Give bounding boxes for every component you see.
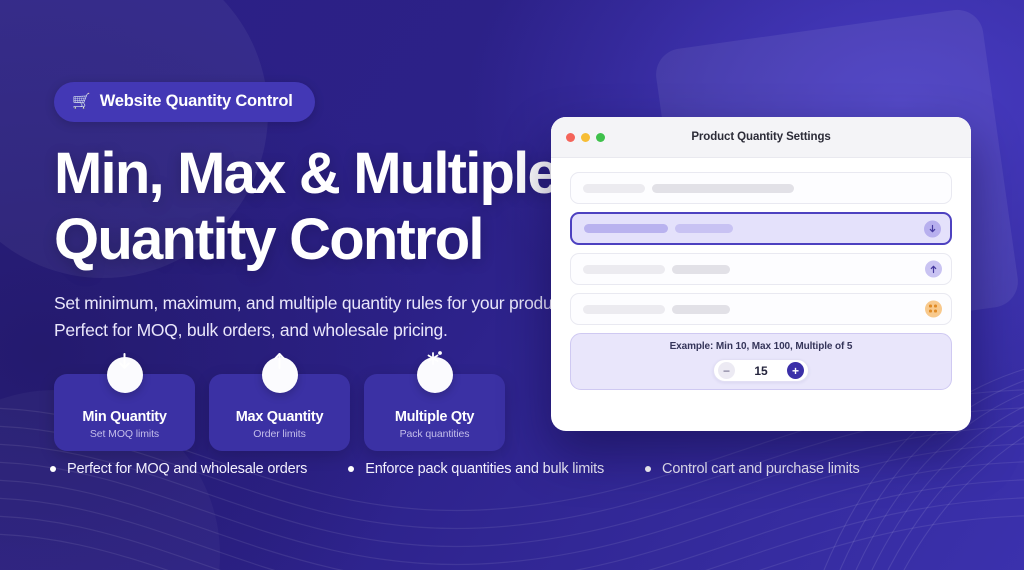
- feature-card-subtitle: Set MOQ limits: [90, 428, 159, 440]
- benefit-text: Enforce pack quantities and bulk limits: [365, 461, 604, 477]
- hero-badge: 🛒 Website Quantity Control: [54, 82, 315, 122]
- hero-banner: 🛒 Website Quantity Control Min, Max & Mu…: [0, 0, 1024, 570]
- arrow-up-icon: [262, 357, 298, 393]
- feature-card-title: Max Quantity: [236, 409, 323, 425]
- hero-badge-label: Website Quantity Control: [100, 92, 293, 111]
- headline-line-2: Quantity Control: [54, 207, 483, 272]
- example-label: Example: Min 10, Max 100, Multiple of 5: [670, 341, 853, 352]
- pack-dots-icon[interactable]: [925, 301, 942, 318]
- arrow-up-icon[interactable]: [925, 261, 942, 278]
- feature-card-title: Multiple Qty: [395, 409, 474, 425]
- arrow-down-icon: [107, 357, 143, 393]
- benefit-list: Perfect for MOQ and wholesale orders Enf…: [50, 461, 860, 477]
- feature-card-subtitle: Pack quantities: [400, 428, 470, 440]
- window-title: Product Quantity Settings: [551, 131, 971, 143]
- placeholder-bar: [583, 305, 665, 314]
- hero-subtitle: Set minimum, maximum, and multiple quant…: [54, 290, 594, 343]
- subtitle-line-1: Set minimum, maximum, and multiple quant…: [54, 293, 504, 313]
- quantity-stepper[interactable]: − 15 +: [713, 359, 809, 382]
- increment-button[interactable]: +: [787, 362, 804, 379]
- placeholder-bar: [583, 184, 645, 193]
- bullet-dot-icon: [50, 466, 56, 472]
- feature-card-list: Min Quantity Set MOQ limits Max Quantity…: [54, 374, 614, 451]
- list-item: Enforce pack quantities and bulk limits: [348, 461, 604, 477]
- feature-card-subtitle: Order limits: [253, 428, 305, 440]
- placeholder-bar: [652, 184, 794, 193]
- list-item: Perfect for MOQ and wholesale orders: [50, 461, 307, 477]
- quantity-value: 15: [754, 364, 767, 378]
- feature-card-min-quantity[interactable]: Min Quantity Set MOQ limits: [54, 374, 195, 451]
- pack-dots-glyph: [928, 304, 939, 315]
- page-title: Min, Max & Multiple Quantity Control: [54, 141, 614, 273]
- placeholder-bar: [584, 224, 668, 233]
- feature-card-multiple-qty[interactable]: Multiple Qty Pack quantities: [364, 374, 505, 451]
- feature-card-max-quantity[interactable]: Max Quantity Order limits: [209, 374, 350, 451]
- arrow-down-icon[interactable]: [924, 220, 941, 237]
- placeholder-bar: [672, 265, 730, 274]
- placeholder-bar: [675, 224, 733, 233]
- bullet-dot-icon: [645, 466, 651, 472]
- example-panel: Example: Min 10, Max 100, Multiple of 5 …: [570, 333, 952, 390]
- benefit-text: Perfect for MOQ and wholesale orders: [67, 461, 307, 477]
- sparkle-icon: [417, 357, 453, 393]
- feature-card-title: Min Quantity: [82, 409, 166, 425]
- bullet-dot-icon: [348, 466, 354, 472]
- settings-row-active[interactable]: [570, 212, 952, 245]
- settings-row[interactable]: [570, 253, 952, 285]
- hero-left-column: 🛒 Website Quantity Control Min, Max & Mu…: [54, 0, 614, 451]
- benefit-text: Control cart and purchase limits: [662, 461, 860, 477]
- product-settings-window: Product Quantity Settings: [551, 117, 971, 431]
- window-titlebar: Product Quantity Settings: [551, 117, 971, 158]
- headline-line-1: Min, Max & Multiple: [54, 141, 558, 206]
- list-item: Control cart and purchase limits: [645, 461, 860, 477]
- settings-row[interactable]: [570, 293, 952, 325]
- settings-row[interactable]: [570, 172, 952, 204]
- shopping-cart-icon: 🛒: [72, 94, 91, 109]
- placeholder-bar: [583, 265, 665, 274]
- window-body: Example: Min 10, Max 100, Multiple of 5 …: [551, 158, 971, 390]
- decrement-button[interactable]: −: [718, 362, 735, 379]
- placeholder-bar: [672, 305, 730, 314]
